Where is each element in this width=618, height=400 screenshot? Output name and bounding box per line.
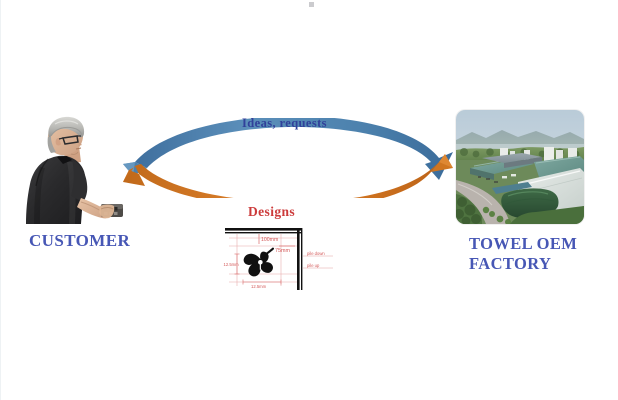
svg-text:12.5mm: 12.5mm bbox=[251, 284, 267, 289]
svg-text:pile up: pile up bbox=[307, 263, 320, 268]
svg-text:pile down: pile down bbox=[307, 251, 325, 256]
slide-canvas: CUSTOMER bbox=[0, 0, 618, 400]
top-edge-marker bbox=[309, 2, 314, 7]
svg-text:12.5mm: 12.5mm bbox=[224, 262, 240, 267]
factory-label: TOWEL OEM FACTORY bbox=[469, 234, 577, 274]
factory-photo bbox=[456, 110, 584, 224]
svg-text:75mm: 75mm bbox=[275, 248, 290, 254]
svg-text:100mm: 100mm bbox=[261, 237, 278, 243]
ideas-requests-label: Ideas, requests bbox=[242, 116, 327, 131]
customer-label: CUSTOMER bbox=[29, 231, 130, 251]
technical-drawing: 100mm 75mm 12.5mm 12.5mm bbox=[223, 226, 335, 292]
designs-label: Designs bbox=[248, 204, 295, 220]
